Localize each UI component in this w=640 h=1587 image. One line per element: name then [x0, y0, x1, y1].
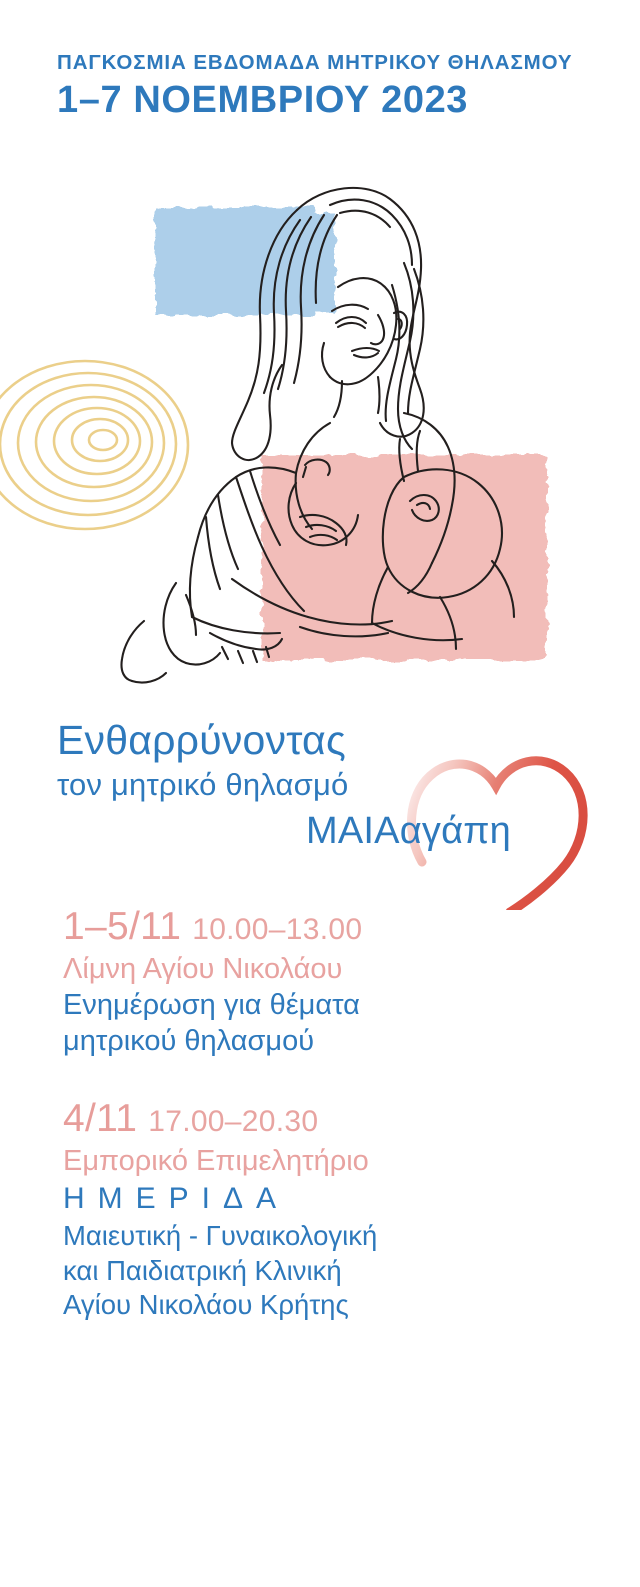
event-date: 1–5/11	[63, 905, 181, 948]
event-venue: Λίμνη Αγίου Νικολάου	[63, 952, 603, 987]
mother-baby-illustration	[0, 165, 640, 695]
header-kicker: ΠΑΓΚΟΣΜΙΑ ΕΒΔΟΜΑΔΑ ΜΗΤΡΙΚΟΥ ΘΗΛΑΣΜΟΥ	[57, 52, 617, 75]
event-date: 4/11	[63, 1097, 137, 1140]
event-subtitle-line: και Παιδιατρική Κλινική	[63, 1254, 603, 1288]
event-item: 4/1117.00–20.30 Εμπορικό Επιμελητήριο ΗΜ…	[63, 1097, 603, 1322]
event-venue: Εμπορικό Επιμελητήριο	[63, 1144, 603, 1179]
header-dates: 1–7 ΝΟΕΜΒΡΙΟΥ 2023	[57, 81, 617, 121]
poster-header: ΠΑΓΚΟΣΜΙΑ ΕΒΔΟΜΑΔΑ ΜΗΤΡΙΚΟΥ ΘΗΛΑΣΜΟΥ 1–7…	[57, 52, 617, 120]
event-time: 10.00–13.00	[192, 913, 362, 946]
event-title-line: μητρικού θηλασμού	[63, 1024, 603, 1059]
tagline-line-2: τον μητρικό θηλασμό	[57, 767, 348, 803]
tagline-block: Ενθαρρύνοντας τον μητρικό θηλασμό ΜΑΙΑαγ…	[0, 705, 640, 890]
event-title-line: ΗΜΕΡΙΔΑ	[63, 1181, 603, 1218]
tagline-line-1: Ενθαρρύνοντας	[57, 717, 346, 764]
tagline-line-3: ΜΑΙΑαγάπη	[306, 810, 511, 853]
event-headline: 4/1117.00–20.30	[63, 1097, 603, 1141]
event-headline: 1–5/1110.00–13.00	[63, 905, 603, 949]
event-time: 17.00–20.30	[148, 1105, 318, 1138]
event-title: Ενημέρωση για θέματα μητρικού θηλασμού	[63, 988, 603, 1059]
event-subtitle-line: Αγίου Νικολάου Κρήτης	[63, 1288, 603, 1322]
yellow-spiral	[0, 361, 188, 529]
events-list: 1–5/1110.00–13.00 Λίμνη Αγίου Νικολάου Ε…	[63, 905, 603, 1322]
event-item: 1–5/1110.00–13.00 Λίμνη Αγίου Νικολάου Ε…	[63, 905, 603, 1059]
event-title: ΗΜΕΡΙΔΑ	[63, 1181, 603, 1218]
event-title-line: Ενημέρωση για θέματα	[63, 988, 603, 1023]
event-subtitle-line: Μαιευτική - Γυναικολογική	[63, 1219, 603, 1253]
poster-root: ΠΑΓΚΟΣΜΙΑ ΕΒΔΟΜΑΔΑ ΜΗΤΡΙΚΟΥ ΘΗΛΑΣΜΟΥ 1–7…	[0, 0, 640, 1587]
event-subtitle: Μαιευτική - Γυναικολογική και Παιδιατρικ…	[63, 1219, 603, 1322]
